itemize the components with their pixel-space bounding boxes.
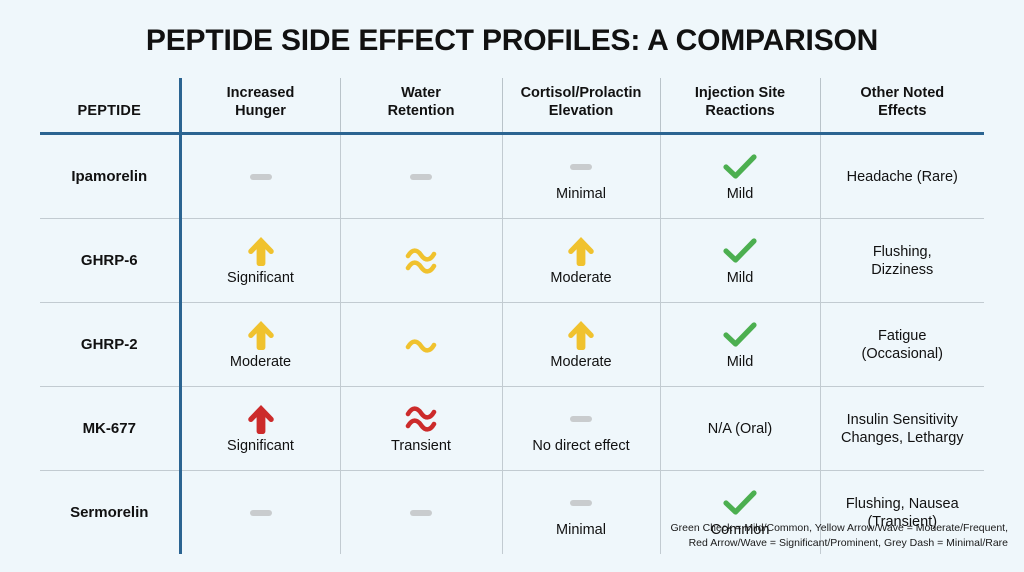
green-check-icon (723, 487, 757, 519)
cell-other-effects: Insulin SensitivityChanges, Lethargy (820, 387, 984, 471)
cell-content: Mild (667, 151, 814, 203)
cell-injection-site: Mild (660, 134, 820, 219)
table-body: IpamorelinMinimalMildHeadache (Rare)GHRP… (40, 134, 984, 555)
cell-content: Moderate (509, 319, 654, 371)
column-header-cortisol-prolactin-elevation: Cortisol/Prolactin Elevation (502, 78, 660, 134)
table-header: PEPTIDE Increased Hunger Water Retention… (40, 78, 984, 134)
grey-dash-icon (410, 161, 432, 193)
cell-content: Insulin SensitivityChanges, Lethargy (827, 411, 979, 447)
yellow-arrow-up-icon (566, 319, 596, 351)
green-check-icon (723, 319, 757, 351)
cell-injection-site: Mild (660, 303, 820, 387)
cell-label: Flushing,Dizziness (871, 243, 933, 279)
cell-label: Moderate (230, 353, 291, 371)
cell-content: Fatigue(Occasional) (827, 327, 979, 363)
peptide-name-cell: GHRP-2 (40, 303, 180, 387)
peptide-name-cell: Ipamorelin (40, 134, 180, 219)
cell-content: Moderate (509, 235, 654, 287)
cell-label: No direct effect (532, 437, 629, 455)
cell-label: Insulin SensitivityChanges, Lethargy (841, 411, 964, 447)
cell-other-effects: Headache (Rare) (820, 134, 984, 219)
header-row: PEPTIDE Increased Hunger Water Retention… (40, 78, 984, 134)
grey-dash-icon (250, 161, 272, 193)
column-header-peptide: PEPTIDE (40, 78, 180, 134)
header-line-1: Other Noted (860, 85, 944, 101)
peptide-name-cell: MK-677 (40, 387, 180, 471)
red-arrow-up-icon (246, 403, 276, 435)
yellow-single-wave-icon (405, 329, 437, 361)
cell-water-retention (340, 303, 502, 387)
column-header-increased-hunger: Increased Hunger (180, 78, 340, 134)
cell-injection-site: Mild (660, 219, 820, 303)
cell-label: Moderate (550, 353, 611, 371)
cell-injection-site: N/A (Oral) (660, 387, 820, 471)
header-line-2: Reactions (705, 103, 774, 119)
page-title: PEPTIDE SIDE EFFECT PROFILES: A COMPARIS… (0, 24, 1024, 58)
cell-cortisol-prolactin: Moderate (502, 219, 660, 303)
cell-content: N/A (Oral) (667, 420, 814, 438)
cell-label: Significant (227, 269, 294, 287)
yellow-arrow-up-icon (246, 319, 276, 351)
grey-dash-icon (570, 403, 592, 435)
cell-label: Transient (391, 437, 451, 455)
table-row: GHRP-2ModerateModerateMildFatigue(Occasi… (40, 303, 984, 387)
cell-content: Significant (188, 235, 334, 287)
column-header-injection-site-reactions: Injection Site Reactions (660, 78, 820, 134)
cell-label: Mild (727, 185, 754, 203)
header-line-2: Retention (388, 103, 455, 119)
cell-increased-hunger: Significant (180, 387, 340, 471)
cell-label: Headache (Rare) (847, 168, 958, 186)
cell-label: Significant (227, 437, 294, 455)
cell-content: Mild (667, 235, 814, 287)
column-header-other-noted-effects: Other Noted Effects (820, 78, 984, 134)
header-line-2: Elevation (549, 103, 613, 119)
cell-content: Transient (347, 403, 496, 455)
cell-content: No direct effect (509, 403, 654, 455)
cell-water-retention (340, 134, 502, 219)
header-line-1: Injection Site (695, 85, 785, 101)
legend-note: Green Check = Mild/Common, Yellow Arrow/… (0, 521, 1008, 551)
cell-content (347, 245, 496, 277)
cell-label: Mild (727, 353, 754, 371)
yellow-arrow-up-icon (246, 235, 276, 267)
cell-content: Moderate (188, 319, 334, 371)
cell-increased-hunger: Moderate (180, 303, 340, 387)
red-double-wave-icon (405, 403, 437, 435)
cell-increased-hunger (180, 134, 340, 219)
infographic-page: PEPTIDE SIDE EFFECT PROFILES: A COMPARIS… (0, 0, 1024, 572)
legend-line-1: Green Check = Mild/Common, Yellow Arrow/… (0, 521, 1008, 536)
header-line-2: Hunger (235, 103, 286, 119)
peptide-side-effect-table: PEPTIDE Increased Hunger Water Retention… (40, 78, 984, 554)
cell-content: Significant (188, 403, 334, 455)
cell-content: Mild (667, 319, 814, 371)
cell-content: Minimal (509, 151, 654, 203)
cell-content (347, 329, 496, 361)
header-line-1: Increased (227, 85, 295, 101)
cell-label: Mild (727, 269, 754, 287)
grey-dash-icon (570, 151, 592, 183)
cell-other-effects: Fatigue(Occasional) (820, 303, 984, 387)
table-row: MK-677SignificantTransientNo direct effe… (40, 387, 984, 471)
cell-content (347, 161, 496, 193)
table-row: IpamorelinMinimalMildHeadache (Rare) (40, 134, 984, 219)
legend-line-2: Red Arrow/Wave = Significant/Prominent, … (0, 536, 1008, 551)
comparison-table-wrapper: PEPTIDE Increased Hunger Water Retention… (40, 78, 984, 554)
peptide-name-cell: GHRP-6 (40, 219, 180, 303)
cell-cortisol-prolactin: Moderate (502, 303, 660, 387)
column-header-water-retention: Water Retention (340, 78, 502, 134)
header-line-1: Cortisol/Prolactin (521, 85, 642, 101)
cell-content: Headache (Rare) (827, 168, 979, 186)
cell-label: Fatigue(Occasional) (862, 327, 943, 363)
green-check-icon (723, 151, 757, 183)
grey-dash-icon (570, 487, 592, 519)
cell-water-retention (340, 219, 502, 303)
cell-cortisol-prolactin: No direct effect (502, 387, 660, 471)
cell-label: Minimal (556, 185, 606, 203)
header-line-1: Water (401, 85, 441, 101)
cell-content (188, 161, 334, 193)
cell-other-effects: Flushing,Dizziness (820, 219, 984, 303)
green-check-icon (723, 235, 757, 267)
cell-label: N/A (Oral) (708, 420, 772, 438)
yellow-arrow-up-icon (566, 235, 596, 267)
header-line-1: PEPTIDE (78, 103, 141, 119)
cell-label: Moderate (550, 269, 611, 287)
cell-water-retention: Transient (340, 387, 502, 471)
yellow-double-wave-icon (405, 245, 437, 277)
cell-increased-hunger: Significant (180, 219, 340, 303)
header-line-2: Effects (878, 103, 926, 119)
cell-content: Flushing,Dizziness (827, 243, 979, 279)
cell-cortisol-prolactin: Minimal (502, 134, 660, 219)
table-row: GHRP-6SignificantModerateMildFlushing,Di… (40, 219, 984, 303)
